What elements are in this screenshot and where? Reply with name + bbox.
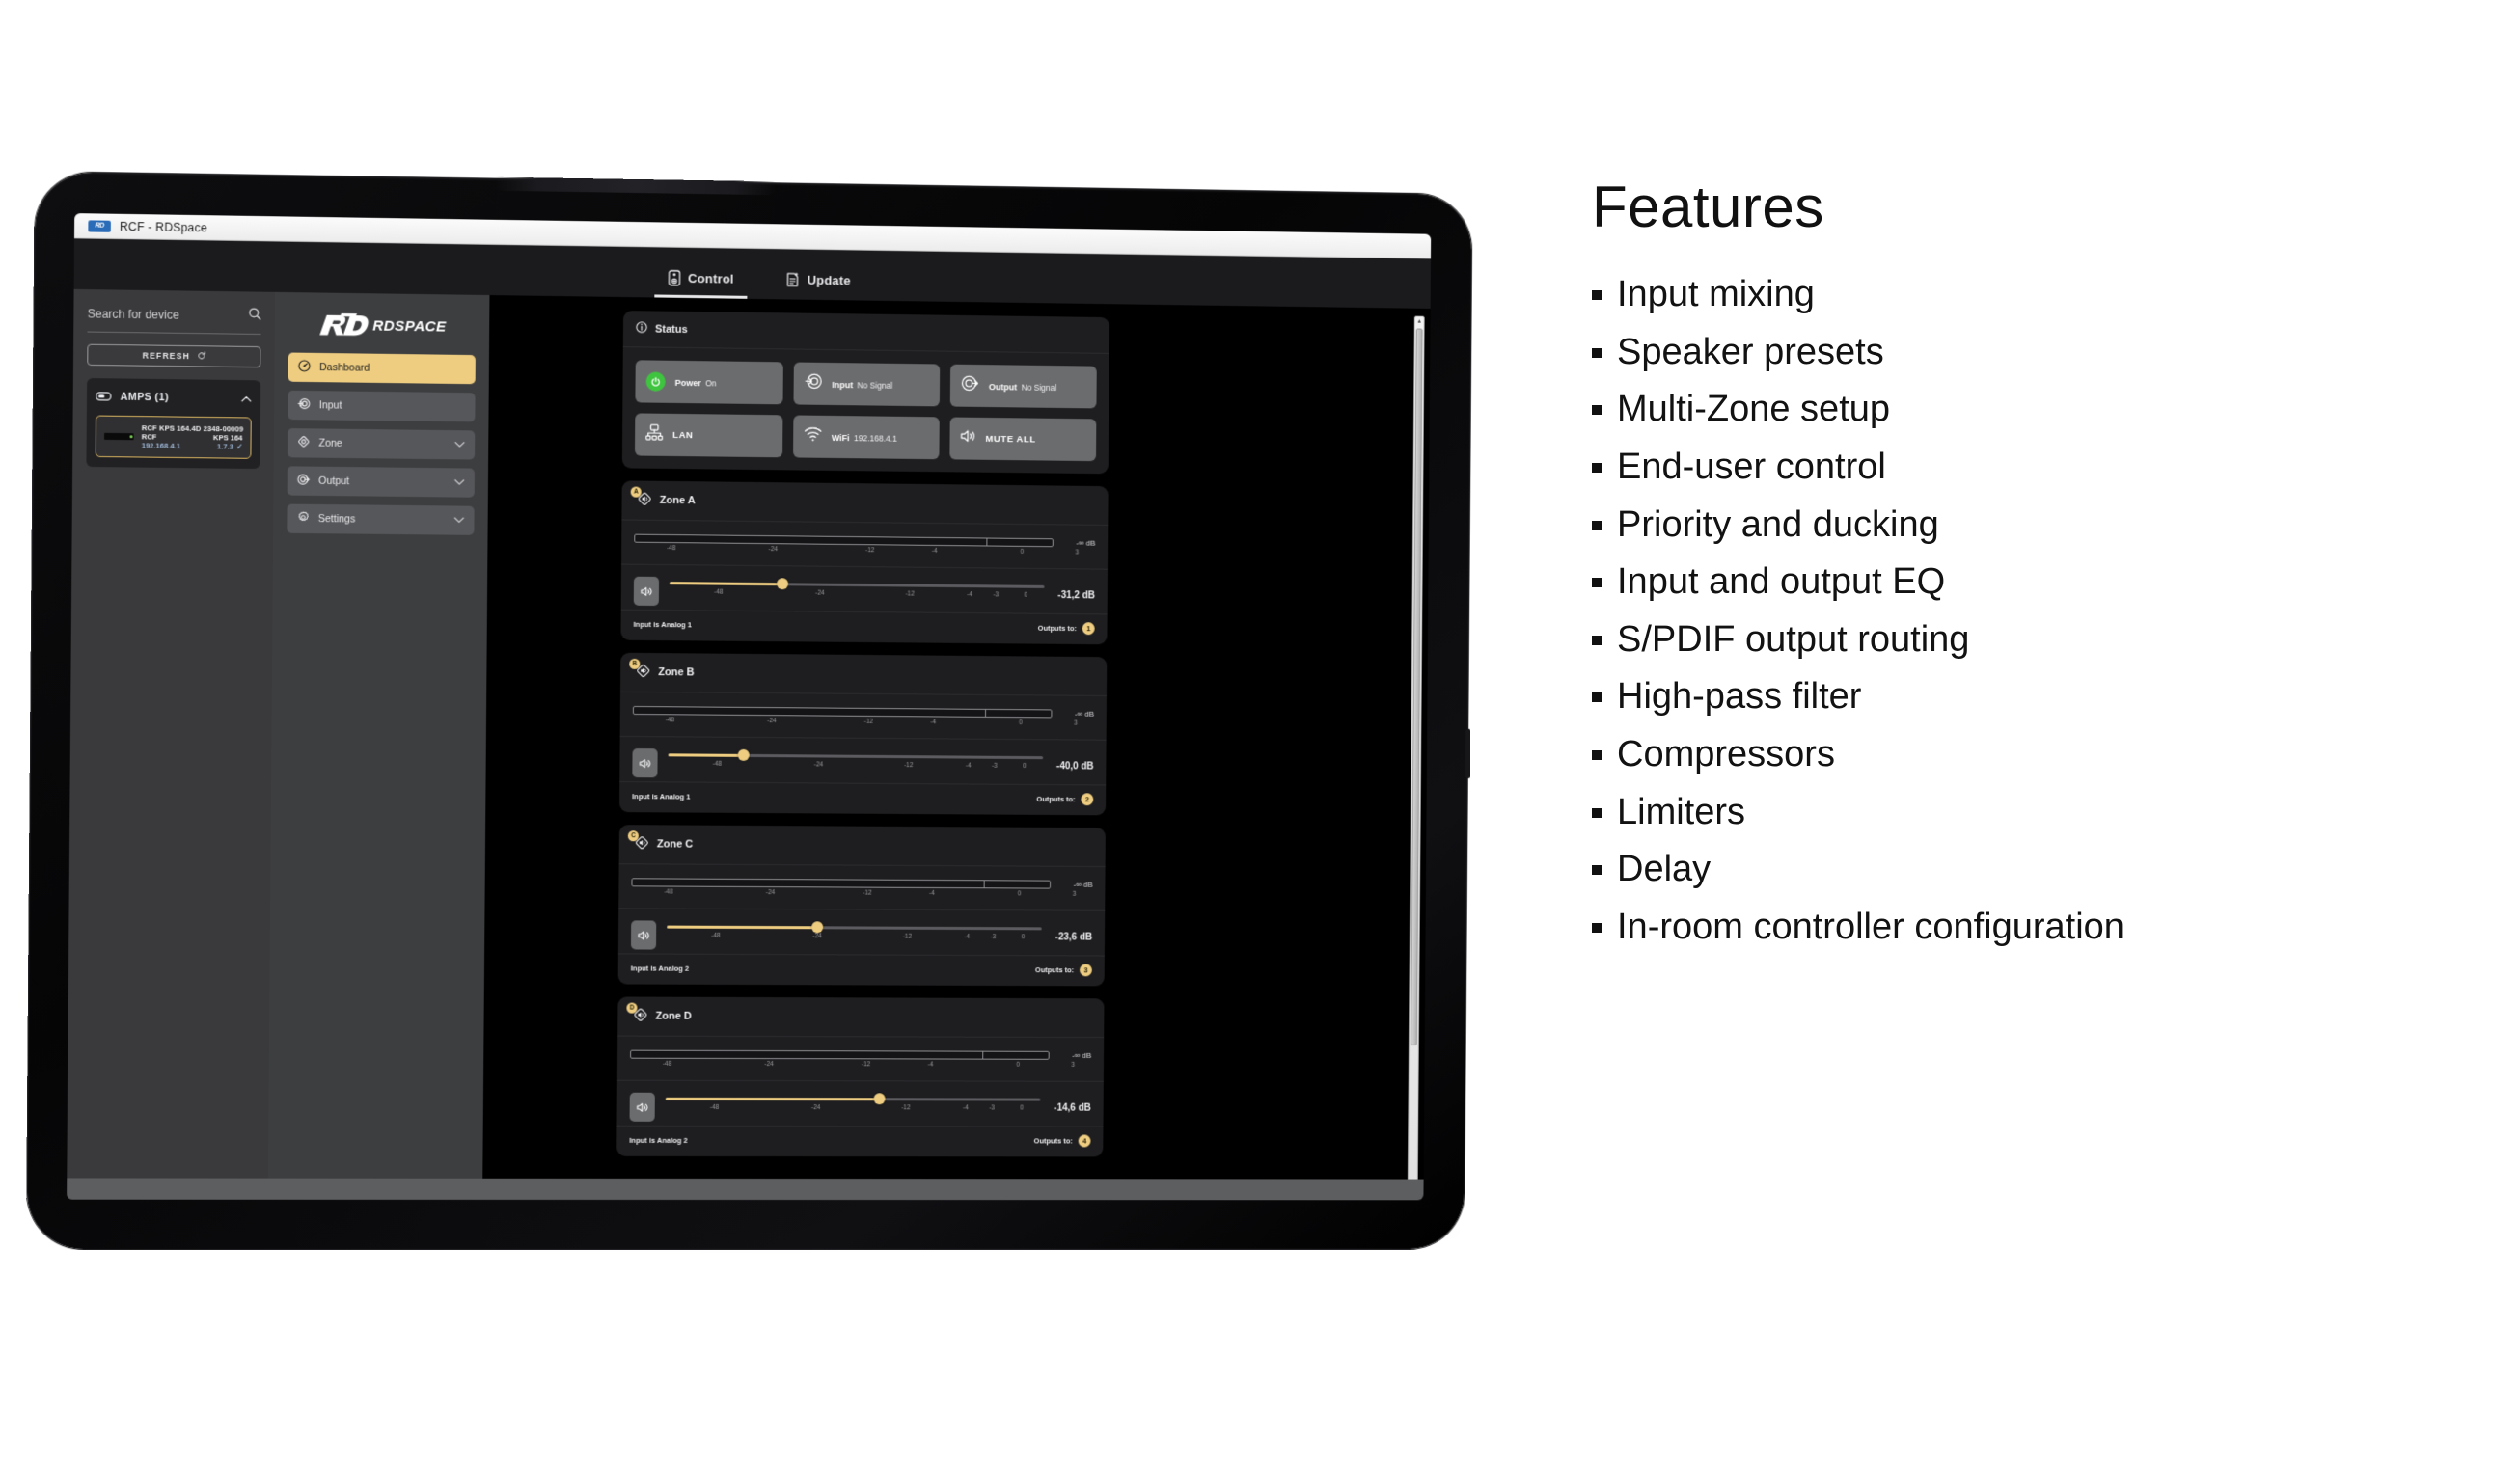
device-ip: 192.168.4.1 <box>142 441 180 450</box>
meter-scale: -48-24-12-403 <box>631 888 1092 904</box>
volume-tick-label: -3 <box>992 762 998 769</box>
volume-knob[interactable] <box>874 1093 886 1104</box>
app-body: Search for device REFRESH <box>67 289 1430 1200</box>
volume-knob[interactable] <box>738 749 750 761</box>
sidebar-item-output-label: Output <box>318 475 445 489</box>
status-tile-power-value: On <box>705 378 716 388</box>
meter-tick-label: -24 <box>769 546 778 553</box>
sidebar-item-output[interactable]: Output <box>288 466 475 497</box>
screen-bottom-bar <box>67 1178 1423 1200</box>
feature-item: In-room controller configuration <box>1592 904 2489 951</box>
amps-group-header[interactable]: AMPS (1) <box>96 388 252 407</box>
zone-output-badge: 4 <box>1079 1134 1091 1147</box>
check-icon: ✓ <box>236 443 242 451</box>
zone-card-list: A Zone A -∞ dB -48-24-12-403 <box>616 480 1108 1156</box>
volume-tick-label: -48 <box>713 760 722 767</box>
volume-track[interactable] <box>667 925 1042 930</box>
meter-tick-label: -4 <box>929 890 935 897</box>
feature-item: Priority and ducking <box>1592 502 2489 549</box>
feature-item: Multi-Zone setup <box>1592 386 2489 433</box>
features-heading: Features <box>1592 174 2489 240</box>
gauge-icon <box>298 360 311 375</box>
status-tile-power-text: Power On <box>675 373 717 392</box>
amps-group-label: AMPS (1) <box>121 392 233 405</box>
volume-tick-label: -3 <box>991 934 997 940</box>
status-tile-lan-label: LAN <box>672 429 693 440</box>
feature-item: Compressors <box>1592 731 2489 778</box>
feature-item-label: Delay <box>1617 846 1711 893</box>
tablet-screen: RD RCF - RDSpace <box>67 213 1431 1200</box>
page-root: RD RCF - RDSpace <box>0 0 2520 1466</box>
feature-item-label: Speaker presets <box>1617 329 1884 376</box>
zone-volume-slider[interactable]: -48-24-12-4-30 <box>670 582 1045 606</box>
volume-tick-label: 0 <box>1020 1104 1024 1111</box>
zone-level-meter: -∞ dB -48-24-12-403 <box>621 520 1108 569</box>
main-content: Status <box>482 295 1431 1200</box>
status-tile-output-value: No Signal <box>1022 383 1057 393</box>
sidebar-item-dashboard-label: Dashboard <box>319 362 466 375</box>
status-tile-wifi-label: WiFi <box>832 433 850 443</box>
input-icon <box>297 397 310 413</box>
zone-icon <box>297 435 310 450</box>
zone-level-meter: -∞ dB -48-24-12-403 <box>618 864 1105 911</box>
status-tile-wifi-value: 192.168.4.1 <box>854 433 897 444</box>
meter-line: -∞ dB <box>631 878 1092 889</box>
device-name: RCF KPS 164.4D 2348-00009 <box>142 423 243 433</box>
meter-tick-label: 0 <box>1016 1062 1020 1069</box>
zone-title: Zone A <box>660 495 696 506</box>
zone-badge: D <box>626 1003 637 1014</box>
volume-track[interactable] <box>670 582 1045 588</box>
volume-scale: -48-24-12-4-30 <box>666 1103 1041 1118</box>
zone-card: D Zone D -∞ dB -48-24-12-403 <box>616 996 1104 1156</box>
volume-scale: -48-24-12-4-30 <box>668 760 1043 776</box>
zone-volume-value: -31,2 dB <box>1055 590 1095 601</box>
status-card: Status <box>622 311 1109 474</box>
meter-tick-label: -12 <box>865 547 874 554</box>
zone-level-meter: -∞ dB -48-24-12-403 <box>617 1037 1104 1082</box>
zone-card-footer: Input is Analog 1 Outputs to: 1 <box>620 610 1107 645</box>
vertical-scrollbar[interactable]: ▲ ▼ <box>1408 316 1425 1193</box>
meter-value: -∞ dB <box>1060 881 1093 889</box>
rd-mark-icon <box>317 312 370 339</box>
volume-tick-label: -12 <box>903 933 912 939</box>
meter-tick-label: 3 <box>1075 549 1079 556</box>
mute-all-label: MUTE ALL <box>986 433 1036 445</box>
volume-tick-label: -24 <box>814 761 823 768</box>
device-brand: RCF <box>142 432 157 441</box>
meter-zero-marker <box>986 539 987 546</box>
zone-volume-value: -23,6 dB <box>1053 932 1093 942</box>
volume-tick-label: -24 <box>815 589 824 596</box>
bullet-icon <box>1592 290 1602 300</box>
zone-mute-button[interactable] <box>631 920 656 949</box>
device-list-item[interactable]: RCF KPS 164.4D 2348-00009 RCF KPS 164 19… <box>96 416 252 459</box>
zone-volume-value: -14,6 dB <box>1051 1102 1091 1113</box>
meter-line: -∞ dB <box>630 1050 1091 1060</box>
bullet-icon <box>1592 750 1602 760</box>
volume-knob[interactable] <box>811 921 823 933</box>
features-list: Input mixingSpeaker presetsMulti-Zone se… <box>1592 271 2489 951</box>
volume-tick-label: -4 <box>966 762 972 769</box>
status-tile-output-text: Output No Signal <box>989 377 1056 395</box>
scroll-up-arrow-icon[interactable]: ▲ <box>1416 319 1422 325</box>
bullet-icon <box>1592 521 1602 530</box>
zone-outputs-label: Outputs to: <box>1035 965 1074 974</box>
window-title: RCF - RDSpace <box>120 219 207 234</box>
bullet-icon <box>1592 405 1602 415</box>
zone-title: Zone B <box>658 666 694 678</box>
device-thumbnail <box>104 433 134 440</box>
zone-outputs-label: Outputs to: <box>1038 624 1077 633</box>
feature-item-label: Priority and ducking <box>1617 502 1939 549</box>
meter-tick-label: -48 <box>663 1061 671 1068</box>
status-tile-input-text: Input No Signal <box>832 375 892 394</box>
feature-item-label: Compressors <box>1617 731 1835 778</box>
meter-tick-label: -4 <box>928 1061 934 1068</box>
volume-scale: -48-24-12-4-30 <box>667 932 1042 947</box>
zone-card-footer: Input is Analog 2 Outputs to: 3 <box>618 953 1105 986</box>
zone-mute-button[interactable] <box>634 577 659 606</box>
main-tabs: Control Update <box>654 263 864 300</box>
feature-item: Speaker presets <box>1592 329 2489 376</box>
volume-tick-label: 0 <box>1024 591 1027 598</box>
status-tile-power[interactable]: Power On <box>635 360 782 404</box>
chevron-down-icon[interactable] <box>454 439 465 450</box>
feature-item: Input and output EQ <box>1592 558 2489 606</box>
zone-card-footer: Input is Analog 2 Outputs to: 4 <box>616 1126 1103 1157</box>
status-tile-lan[interactable]: LAN <box>635 413 782 457</box>
feature-item-label: High-pass filter <box>1617 673 1861 720</box>
refresh-button-label: REFRESH <box>143 350 190 361</box>
tab-update[interactable]: Update <box>773 265 864 300</box>
zone-output-badge: 2 <box>1081 793 1093 805</box>
search-icon[interactable] <box>248 308 260 325</box>
status-tile-wifi-text: WiFi 192.168.4.1 <box>832 428 897 447</box>
features-section: Features Input mixingSpeaker presetsMult… <box>1592 174 2489 962</box>
zone-outputs-label: Outputs to: <box>1036 795 1075 803</box>
zone-card-header: D Zone D <box>617 996 1104 1038</box>
zone-outputs-label: Outputs to: <box>1034 1136 1073 1145</box>
tablet-bezel: RD RCF - RDSpace <box>27 172 1472 1249</box>
volume-tick-label: -48 <box>710 1103 719 1110</box>
meter-tick-label: -24 <box>764 1061 773 1068</box>
chevron-down-icon[interactable] <box>453 515 464 527</box>
meter-scale: -48-24-12-403 <box>633 717 1094 734</box>
meter-tick-label: -4 <box>930 719 936 725</box>
zone-volume-row: -48-24-12-4-30 -14,6 dB <box>616 1081 1103 1127</box>
meter-value: -∞ dB <box>1061 710 1094 719</box>
info-icon <box>636 321 647 336</box>
zone-outputs: Outputs to: 2 <box>1036 793 1093 805</box>
device-ip-firmware: 192.168.4.1 1.7.3✓ <box>142 441 243 450</box>
feature-item: High-pass filter <box>1592 673 2489 720</box>
meter-zero-marker <box>982 1052 983 1059</box>
feature-item: S/PDIF output routing <box>1592 616 2489 664</box>
zone-mute-button[interactable] <box>630 1093 655 1122</box>
feature-item: Delay <box>1592 846 2489 893</box>
device-firmware-wrap: 1.7.3✓ <box>217 442 242 450</box>
output-icon <box>961 374 979 397</box>
zone-outputs: Outputs to: 3 <box>1035 964 1092 976</box>
meter-tick-label: -24 <box>766 889 775 896</box>
zone-input-source: Input is Analog 1 <box>634 620 692 630</box>
search-row[interactable]: Search for device <box>88 305 261 335</box>
zone-badge: C <box>628 830 639 841</box>
refresh-icon <box>197 351 205 362</box>
meter-tick-label: -12 <box>863 890 871 897</box>
zone-title: Zone D <box>655 1011 691 1022</box>
zone-volume-slider[interactable]: -48-24-12-4-30 <box>667 925 1042 947</box>
feature-item-label: Multi-Zone setup <box>1617 386 1890 433</box>
feature-item-label: Limiters <box>1617 789 1745 836</box>
zone-level-meter: -∞ dB -48-24-12-403 <box>620 692 1107 741</box>
volume-fill <box>669 753 744 757</box>
output-icon <box>297 474 310 489</box>
meter-tick-label: -24 <box>767 718 776 724</box>
zone-output-badge: 3 <box>1080 964 1092 976</box>
device-model: KPS 164 <box>213 433 243 442</box>
meter-tick-label: -48 <box>666 717 674 723</box>
meter-track <box>630 1050 1050 1060</box>
tablet-device: RD RCF - RDSpace <box>39 183 1515 1283</box>
chevron-up-icon[interactable] <box>241 390 252 407</box>
feature-item-label: Input mixing <box>1617 271 1815 318</box>
gear-icon <box>297 511 310 527</box>
zone-title: Zone C <box>657 838 693 850</box>
sidebar-item-zone[interactable]: Zone <box>288 428 475 459</box>
feature-item: Limiters <box>1592 789 2489 836</box>
volume-tick-label: -48 <box>711 932 720 938</box>
refresh-button[interactable]: REFRESH <box>87 344 260 368</box>
amp-icon <box>96 388 111 405</box>
power-button[interactable] <box>1465 729 1470 778</box>
status-tile-wifi[interactable]: WiFi 192.168.4.1 <box>793 415 940 459</box>
status-tile-output-label: Output <box>989 382 1017 392</box>
brand-wordmark: RDSPACE <box>372 317 447 335</box>
bullet-icon <box>1592 463 1602 473</box>
meter-zero-marker <box>985 710 986 717</box>
power-icon <box>646 371 666 391</box>
meter-tick-label: 3 <box>1071 1062 1075 1069</box>
meter-tick-label: -4 <box>932 548 938 555</box>
volume-tick-label: -24 <box>811 1104 820 1111</box>
bullet-icon <box>1592 808 1602 818</box>
status-tile-power-label: Power <box>675 378 701 388</box>
amps-group: AMPS (1) RCF KPS 164.4D <box>86 378 260 469</box>
feature-item-label: S/PDIF output routing <box>1617 616 1969 664</box>
meter-track <box>631 878 1051 888</box>
nav-sidebar: RDSPACE Dashboard <box>268 292 490 1200</box>
status-card-title: Status <box>655 323 688 335</box>
volume-tick-label: -12 <box>904 762 913 769</box>
dashboard-column: Status <box>616 311 1109 1169</box>
meter-tick-label: 3 <box>1074 720 1078 727</box>
volume-tick-label: -24 <box>812 933 821 939</box>
volume-tick-label: 0 <box>1022 934 1026 940</box>
sidebar-item-zone-label: Zone <box>318 438 445 451</box>
status-tile-output[interactable]: Output No Signal <box>950 365 1097 409</box>
zone-card-footer: Input is Analog 1 Outputs to: 2 <box>619 781 1106 815</box>
feature-item-label: Input and output EQ <box>1617 558 1945 606</box>
sidebar-item-input[interactable]: Input <box>288 391 475 422</box>
tab-control[interactable]: Control <box>654 263 748 298</box>
search-input[interactable]: Search for device <box>88 307 179 321</box>
zone-input-source: Input is Analog 1 <box>632 792 690 801</box>
volume-tick-label: -4 <box>967 591 972 598</box>
zone-outputs: Outputs to: 1 <box>1038 622 1095 635</box>
sidebar-item-dashboard[interactable]: Dashboard <box>288 353 476 385</box>
zone-volume-value: -40,0 dB <box>1054 761 1094 772</box>
meter-scale: -48-24-12-403 <box>630 1061 1091 1075</box>
zone-card-header: A Zone A <box>621 480 1108 526</box>
lan-icon <box>645 424 663 446</box>
volume-fill <box>666 1097 880 1099</box>
zone-input-source: Input is Analog 2 <box>629 1136 687 1145</box>
input-icon <box>804 372 822 395</box>
status-tile-input-value: No Signal <box>858 380 893 390</box>
volume-fill <box>667 925 817 929</box>
volume-tick-label: 0 <box>1023 762 1027 769</box>
zone-card: C Zone C -∞ dB -48-24-12-403 <box>618 825 1106 986</box>
volume-scale: -48-24-12-4-30 <box>670 588 1045 606</box>
app-logo-icon: RD <box>88 220 111 231</box>
zone-card-header: B Zone B <box>620 653 1107 696</box>
zone-mute-button[interactable] <box>632 748 657 777</box>
device-finder-pane: Search for device REFRESH <box>67 289 275 1200</box>
volume-track[interactable] <box>669 753 1044 759</box>
bullet-icon <box>1592 923 1602 933</box>
tab-control-label: Control <box>688 271 734 286</box>
meter-tick-label: -48 <box>667 545 675 552</box>
meter-value: -∞ dB <box>1063 538 1096 547</box>
document-update-icon <box>786 271 800 287</box>
meter-tick-label: 0 <box>1018 890 1022 897</box>
volume-fill <box>670 582 782 585</box>
feature-item: End-user control <box>1592 444 2489 491</box>
meter-tick-label: 0 <box>1020 549 1024 556</box>
volume-tick-label: -4 <box>964 933 970 939</box>
zone-badge: B <box>629 659 640 669</box>
zone-outputs: Outputs to: 4 <box>1034 1134 1091 1147</box>
bullet-icon <box>1592 348 1602 358</box>
sidebar-item-settings-label: Settings <box>318 513 445 526</box>
speaker-icon <box>961 429 976 448</box>
bullet-icon <box>1592 865 1602 875</box>
camera-strip <box>495 177 776 196</box>
meter-tick-label: -12 <box>864 719 873 725</box>
feature-item-label: In-room controller configuration <box>1617 904 2124 951</box>
volume-track[interactable] <box>666 1097 1041 1100</box>
sidebar-item-settings[interactable]: Settings <box>287 504 474 535</box>
tab-update-label: Update <box>808 273 851 288</box>
bullet-icon <box>1592 578 1602 587</box>
status-tile-input-label: Input <box>832 380 853 390</box>
mute-all-button[interactable]: MUTE ALL <box>950 417 1097 461</box>
sidebar-item-input-label: Input <box>319 399 466 413</box>
scrollbar-thumb[interactable] <box>1411 329 1423 1046</box>
volume-knob[interactable] <box>777 578 788 589</box>
volume-tick-label: -4 <box>963 1104 969 1111</box>
device-icon <box>668 270 680 286</box>
zone-card: B Zone B -∞ dB -48-24-12-403 <box>619 653 1107 816</box>
zone-volume-slider[interactable]: -48-24-12-4-30 <box>668 753 1043 776</box>
zone-card-header: C Zone C <box>619 825 1106 867</box>
zone-output-badge: 1 <box>1082 622 1095 635</box>
zone-volume-slider[interactable]: -48-24-12-4-30 <box>666 1097 1041 1118</box>
meter-value: -∞ dB <box>1059 1051 1092 1060</box>
wifi-icon <box>804 427 822 447</box>
feature-item: Input mixing <box>1592 271 2489 318</box>
volume-tick-label: -3 <box>989 1104 995 1111</box>
brand-logo: RDSPACE <box>288 308 476 355</box>
zone-volume-row: -48-24-12-4-30 -23,6 dB <box>618 909 1105 955</box>
status-card-header: Status <box>623 311 1109 354</box>
zone-volume-row: -48-24-12-4-30 -40,0 dB <box>619 737 1106 785</box>
meter-scale: -48-24-12-403 <box>634 545 1095 563</box>
meter-tick-label: -48 <box>664 889 672 896</box>
volume-tick-label: -3 <box>993 591 999 598</box>
meter-tick-label: -12 <box>862 1061 870 1068</box>
device-info: RCF KPS 164.4D 2348-00009 RCF KPS 164 19… <box>142 423 243 450</box>
meter-tick-label: 0 <box>1019 719 1023 726</box>
feature-item-label: End-user control <box>1617 444 1886 491</box>
status-tile-input[interactable]: Input No Signal <box>793 362 940 406</box>
volume-tick-label: -48 <box>714 588 723 595</box>
zone-volume-row: -48-24-12-4-30 -31,2 dB <box>621 565 1108 614</box>
device-firmware: 1.7.3 <box>217 442 233 450</box>
volume-tick-label: -12 <box>905 590 914 597</box>
meter-zero-marker <box>983 881 984 887</box>
zone-input-source: Input is Analog 2 <box>631 964 689 972</box>
status-tile-grid: Power On <box>622 347 1109 474</box>
meter-tick-label: 3 <box>1073 891 1077 898</box>
bullet-icon <box>1592 636 1602 645</box>
bullet-icon <box>1592 692 1602 702</box>
chevron-down-icon[interactable] <box>454 476 465 488</box>
volume-tick-label: -12 <box>901 1104 910 1111</box>
zone-card: A Zone A -∞ dB -48-24-12-403 <box>620 480 1108 644</box>
zone-badge: A <box>631 487 642 498</box>
